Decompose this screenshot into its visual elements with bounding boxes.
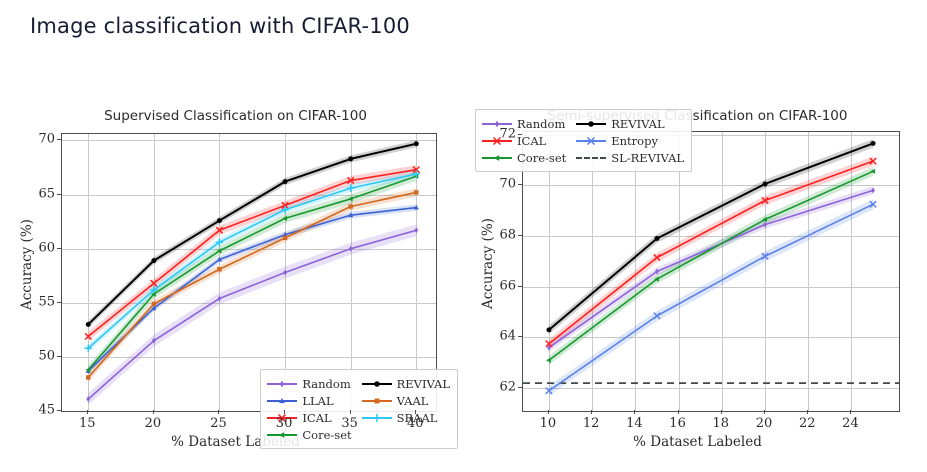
x-tick bbox=[218, 410, 219, 414]
legend-label: Core-set bbox=[517, 151, 566, 165]
data-point-marker bbox=[374, 381, 380, 387]
x-tick bbox=[634, 410, 635, 414]
y-tick-label: 66 bbox=[482, 278, 516, 293]
x-tick-label: 12 bbox=[583, 416, 600, 431]
data-point-marker bbox=[373, 414, 380, 421]
legend-swatch-revival bbox=[362, 378, 392, 390]
y-tick bbox=[518, 286, 522, 287]
y-tick bbox=[57, 248, 61, 249]
data-point-marker bbox=[86, 375, 90, 379]
legend-marker bbox=[576, 118, 606, 130]
x-tick bbox=[153, 410, 154, 414]
chart-supervised: Supervised Classification on CIFAR-100 A… bbox=[8, 104, 463, 454]
data-point-marker bbox=[494, 155, 499, 161]
legend-label: SL-REVIVAL bbox=[611, 151, 684, 165]
y-tick-label: 50 bbox=[21, 348, 55, 363]
x-tick bbox=[350, 410, 351, 414]
legend-swatch-core-set bbox=[482, 152, 512, 164]
y-tick-label: 65 bbox=[21, 186, 55, 201]
y-tick bbox=[518, 387, 522, 388]
plot-inner-semi-supervised bbox=[523, 132, 899, 411]
data-point-marker bbox=[348, 156, 353, 161]
legend-item-random[interactable]: Random bbox=[267, 375, 351, 392]
y-tick bbox=[57, 410, 61, 411]
x-tick bbox=[678, 410, 679, 414]
data-point-marker bbox=[86, 322, 91, 327]
legend-item-vaal[interactable]: VAAL bbox=[362, 392, 450, 409]
legend-label: ICAL bbox=[517, 134, 546, 148]
confidence-band bbox=[549, 167, 873, 365]
y-tick bbox=[57, 356, 61, 357]
legend-marker bbox=[362, 395, 392, 407]
legend-label: ICAL bbox=[302, 411, 331, 425]
x-tick bbox=[415, 410, 416, 414]
x-tick-label: 30 bbox=[276, 416, 293, 431]
x-tick bbox=[850, 410, 851, 414]
legend-swatch-llal bbox=[267, 395, 297, 407]
legend-label: Random bbox=[517, 117, 565, 131]
data-point-marker bbox=[414, 190, 418, 194]
x-tick bbox=[591, 410, 592, 414]
y-tick-label: 70 bbox=[21, 132, 55, 147]
y-tick bbox=[57, 139, 61, 140]
data-point-marker bbox=[217, 218, 222, 223]
legend-marker bbox=[267, 378, 297, 390]
legend-item-sl-revival[interactable]: SL-REVIVAL bbox=[576, 149, 684, 166]
x-tick-label: 18 bbox=[713, 416, 730, 431]
legend-marker bbox=[576, 135, 606, 147]
legend-label: VAAL bbox=[397, 394, 429, 408]
legend-marker bbox=[482, 152, 512, 164]
data-point-marker bbox=[588, 121, 594, 127]
legend-swatch-sl-revival bbox=[576, 152, 606, 164]
data-point-marker bbox=[348, 204, 352, 208]
data-point-marker bbox=[546, 358, 551, 363]
x-tick bbox=[87, 410, 88, 414]
y-tick-label: 55 bbox=[21, 294, 55, 309]
x-axis-label-semi-supervised: % Dataset Labeled bbox=[470, 434, 925, 450]
legend-item-llal[interactable]: LLAL bbox=[267, 392, 351, 409]
legend-label: Random bbox=[302, 377, 350, 391]
legend-swatch-sraal bbox=[362, 412, 392, 424]
y-tick bbox=[57, 302, 61, 303]
legend-swatch-entropy bbox=[576, 135, 606, 147]
x-tick-label: 40 bbox=[407, 416, 424, 431]
x-tick-label: 24 bbox=[842, 416, 859, 431]
x-tick-label: 35 bbox=[341, 416, 358, 431]
x-tick bbox=[721, 410, 722, 414]
x-tick-label: 25 bbox=[210, 416, 227, 431]
legend-item-entropy[interactable]: Entropy bbox=[576, 132, 684, 149]
legend-marker bbox=[267, 395, 297, 407]
data-point-marker bbox=[763, 182, 768, 187]
x-tick-label: 22 bbox=[799, 416, 816, 431]
data-point-marker bbox=[283, 179, 288, 184]
legend-label: REVIVAL bbox=[397, 377, 450, 391]
x-tick bbox=[284, 410, 285, 414]
legend-supervised: RandomLLALICALCore-setREVIVALVAALSRAAL bbox=[260, 369, 458, 449]
y-tick bbox=[518, 134, 522, 135]
legend-marker bbox=[362, 378, 392, 390]
x-tick bbox=[807, 410, 808, 414]
legend-swatch-vaal bbox=[362, 395, 392, 407]
plot-area-semi-supervised bbox=[522, 131, 900, 412]
legend-label: LLAL bbox=[302, 394, 333, 408]
data-point-marker bbox=[655, 236, 660, 241]
y-tick bbox=[57, 194, 61, 195]
data-point-marker bbox=[279, 432, 284, 438]
legend-marker bbox=[362, 412, 392, 424]
x-tick-label: 20 bbox=[145, 416, 162, 431]
legend-item-core-set[interactable]: Core-set bbox=[482, 149, 566, 166]
legend-swatch-random bbox=[267, 378, 297, 390]
chart-semi-supervised: Semi-supervised Classification on CIFAR-… bbox=[470, 104, 925, 454]
x-tick bbox=[548, 410, 549, 414]
x-tick-label: 10 bbox=[540, 416, 557, 431]
y-tick-label: 60 bbox=[21, 240, 55, 255]
page-title: Image classification with CIFAR-100 bbox=[30, 14, 410, 38]
y-tick-label: 45 bbox=[21, 403, 55, 418]
data-point-marker bbox=[374, 398, 379, 403]
data-point-marker bbox=[279, 397, 285, 402]
legend-item-revival[interactable]: REVIVAL bbox=[362, 375, 450, 392]
y-tick-label: 62 bbox=[482, 380, 516, 395]
data-point-marker bbox=[151, 258, 156, 263]
legend-label: Entropy bbox=[611, 134, 658, 148]
x-tick bbox=[764, 410, 765, 414]
data-point-marker bbox=[283, 236, 287, 240]
legend-item-sraal[interactable]: SRAAL bbox=[362, 409, 450, 426]
x-tick-label: 20 bbox=[756, 416, 773, 431]
data-point-marker bbox=[871, 141, 876, 146]
y-tick-label: 70 bbox=[482, 177, 516, 192]
data-point-marker bbox=[280, 380, 284, 387]
y-tick-label: 64 bbox=[482, 329, 516, 344]
y-tick bbox=[518, 184, 522, 185]
chart-title-supervised: Supervised Classification on CIFAR-100 bbox=[8, 108, 463, 124]
series-layer bbox=[523, 132, 899, 411]
series-line-core-set bbox=[549, 171, 873, 360]
y-tick bbox=[518, 336, 522, 337]
data-point-marker bbox=[588, 137, 594, 143]
legend-swatch-revival bbox=[576, 118, 606, 130]
data-point-marker bbox=[152, 302, 156, 306]
data-point-marker bbox=[414, 141, 419, 146]
data-point-marker bbox=[217, 267, 221, 271]
y-tick bbox=[518, 235, 522, 236]
y-tick-label: 68 bbox=[482, 227, 516, 242]
x-tick-label: 14 bbox=[626, 416, 643, 431]
x-tick-label: 16 bbox=[669, 416, 686, 431]
legend-item-revival[interactable]: REVIVAL bbox=[576, 115, 684, 132]
legend-label: REVIVAL bbox=[611, 117, 664, 131]
data-point-marker bbox=[546, 327, 551, 332]
x-tick-label: 15 bbox=[79, 416, 96, 431]
y-tick-label: 72 bbox=[482, 126, 516, 141]
